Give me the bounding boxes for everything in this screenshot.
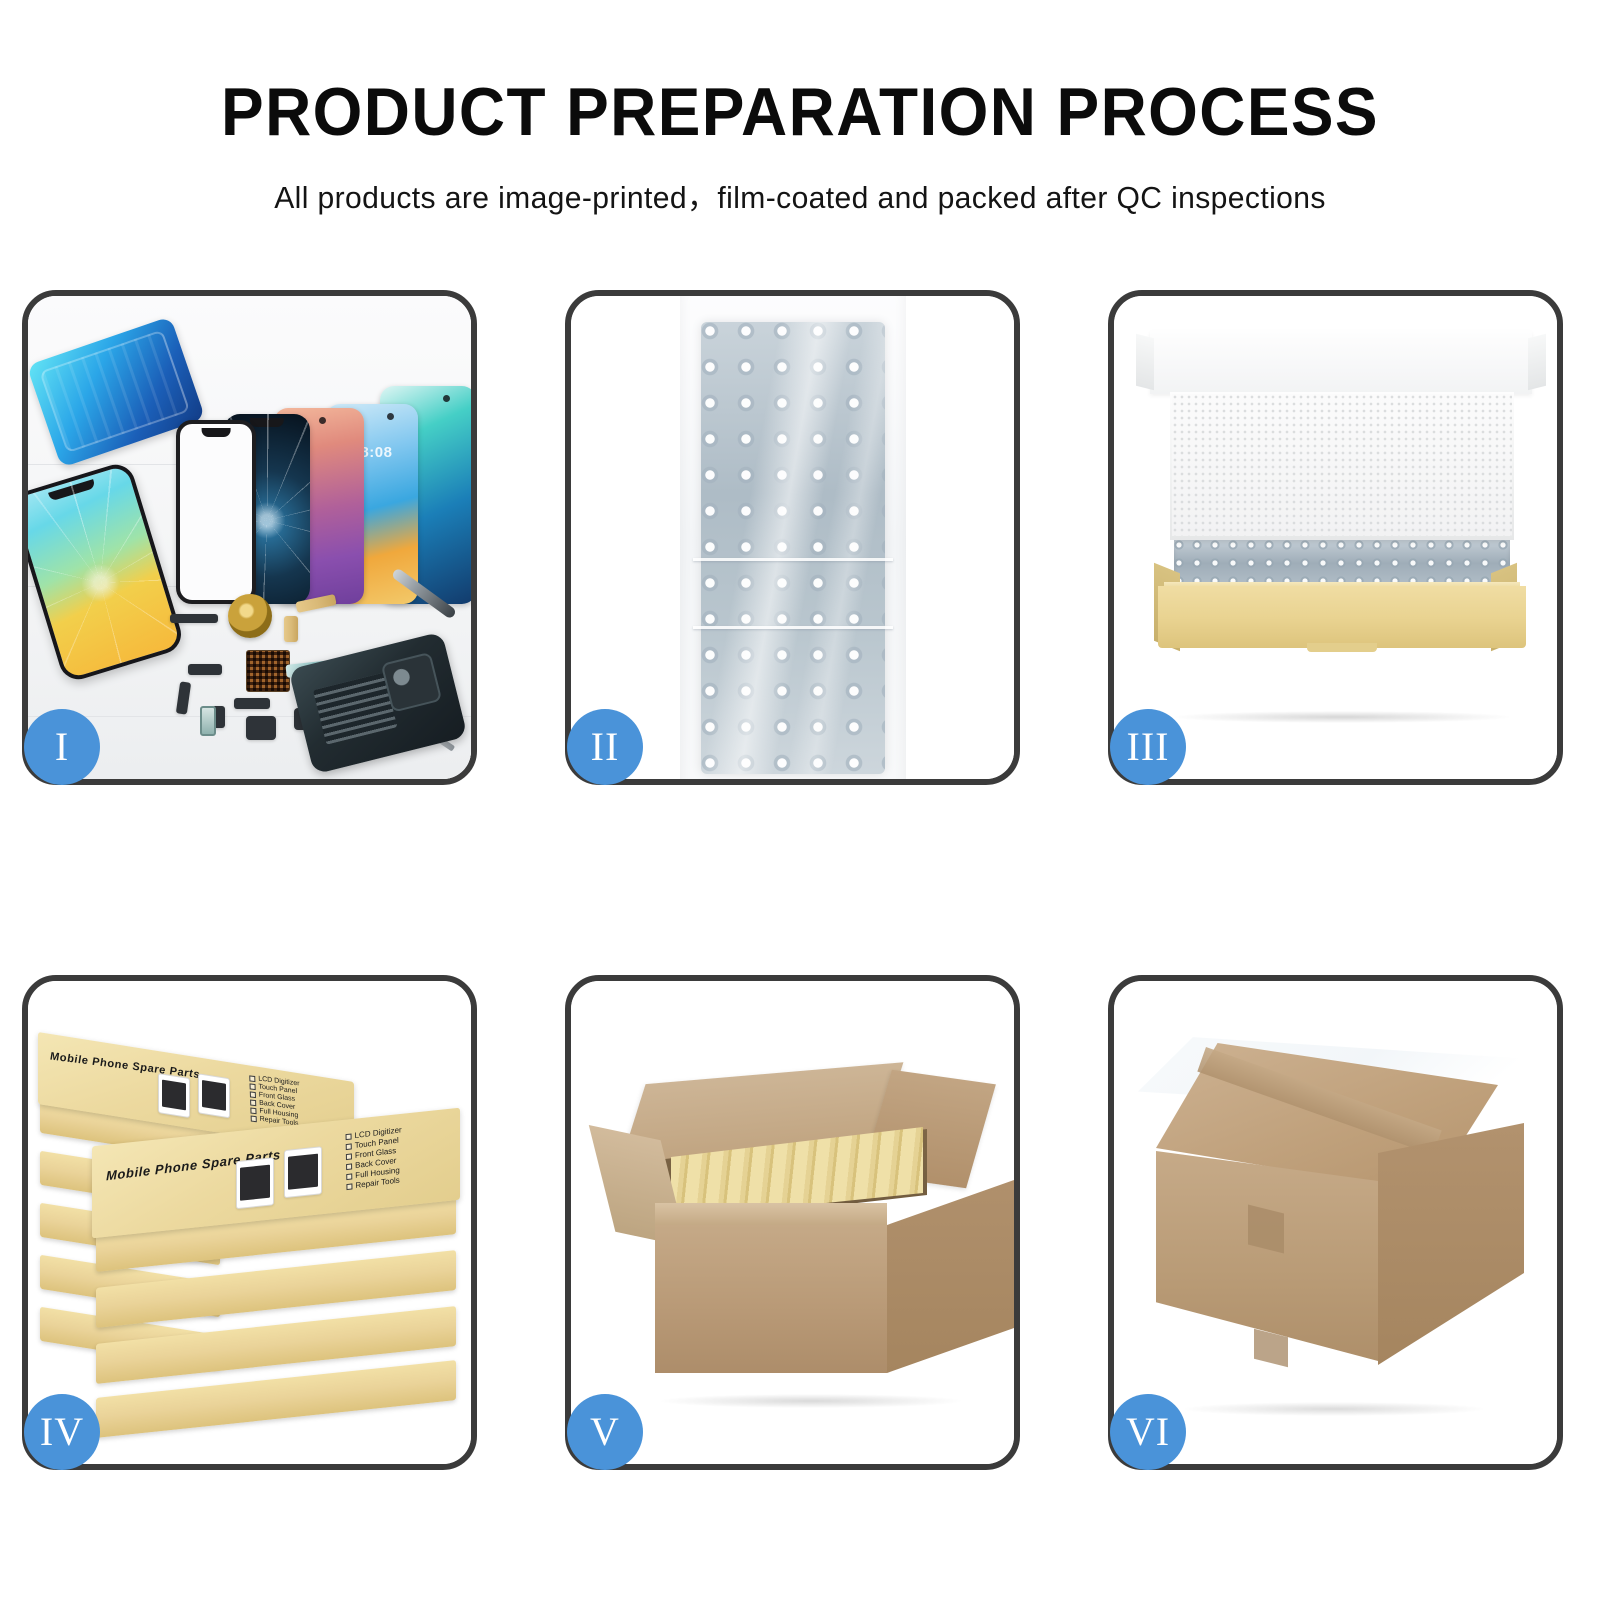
camera-punch-hole-icon bbox=[387, 413, 394, 420]
flex-cable-part bbox=[284, 616, 298, 642]
step-image-6 bbox=[1114, 981, 1557, 1464]
checkbox-icon bbox=[346, 1133, 352, 1140]
checkbox-icon bbox=[250, 1099, 256, 1106]
bubble-wrap-pouch bbox=[701, 322, 885, 774]
step-badge-5: V bbox=[567, 1394, 643, 1470]
step-image-3 bbox=[1114, 296, 1557, 779]
sealed-carton-front bbox=[1156, 1151, 1378, 1361]
camera-punch-hole-icon bbox=[443, 395, 450, 402]
box-drop-shadow bbox=[1174, 711, 1510, 723]
mailer-box-front-panel bbox=[1158, 586, 1526, 648]
speaker-coil-part bbox=[228, 594, 272, 638]
box-phone-image bbox=[158, 1073, 190, 1118]
checkbox-icon bbox=[249, 1075, 255, 1082]
wrap-seam-line bbox=[693, 558, 893, 561]
sealed-carton-side bbox=[1378, 1123, 1524, 1365]
step-image-5 bbox=[571, 981, 1014, 1464]
earpiece-mesh-part bbox=[170, 614, 218, 623]
box-phone-image bbox=[284, 1146, 322, 1198]
step-panel-1: 08:08 bbox=[22, 290, 477, 785]
carton-right-panel bbox=[887, 1179, 1014, 1373]
wrap-seam-line bbox=[693, 626, 893, 629]
checkbox-icon bbox=[249, 1083, 255, 1090]
camera-punch-hole-icon bbox=[319, 417, 326, 424]
step-badge-1: I bbox=[24, 709, 100, 785]
carton-top-rim bbox=[655, 1203, 887, 1227]
checkbox-icon bbox=[251, 1115, 257, 1122]
checkbox-icon bbox=[250, 1091, 256, 1098]
process-step-grid: 08:08 bbox=[22, 290, 1578, 1470]
front-glass-panel bbox=[176, 420, 256, 604]
step-panel-2: II bbox=[565, 290, 1020, 785]
open-carton bbox=[571, 981, 1014, 1464]
checkbox-icon bbox=[346, 1163, 352, 1170]
checkbox-icon bbox=[346, 1183, 352, 1190]
box-closure-tab bbox=[1307, 643, 1377, 652]
sim-tray-part bbox=[200, 706, 216, 736]
chip-array-part bbox=[246, 650, 290, 692]
page-subtitle: All products are image-printed，film-coat… bbox=[24, 172, 1576, 217]
checkbox-icon bbox=[346, 1173, 352, 1180]
retail-box-checklist: LCD Digitizer Touch Panel Front Glass bbox=[345, 1125, 402, 1191]
step-image-1: 08:08 bbox=[28, 296, 471, 779]
ic-chip-part bbox=[234, 698, 270, 709]
step-image-4: Mobile Phone Spare Parts LCD Digitizer T… bbox=[28, 981, 471, 1464]
carton-drop-shadow bbox=[1184, 1402, 1484, 1416]
checkbox-icon bbox=[346, 1143, 352, 1150]
step-panel-3: III bbox=[1108, 290, 1563, 785]
screen-notch-icon bbox=[202, 428, 231, 437]
step-panel-5: V bbox=[565, 975, 1020, 1470]
step-badge-6: VI bbox=[1110, 1394, 1186, 1470]
step-badge-2: II bbox=[567, 709, 643, 785]
infographic-page: PRODUCT PREPARATION PROCESS All products… bbox=[0, 0, 1600, 1600]
mailer-box-lid-flap bbox=[1150, 330, 1532, 394]
page-title: PRODUCT PREPARATION PROCESS bbox=[48, 78, 1552, 146]
step-panel-4: Mobile Phone Spare Parts LCD Digitizer T… bbox=[22, 975, 477, 1470]
connector-part bbox=[188, 664, 222, 675]
step-badge-4: IV bbox=[24, 1394, 100, 1470]
foam-liner-sheet bbox=[1172, 394, 1512, 536]
header: PRODUCT PREPARATION PROCESS All products… bbox=[0, 78, 1600, 217]
checkbox-icon bbox=[346, 1153, 352, 1160]
retail-box-checklist: LCD Digitizer Touch Panel Front Glass bbox=[249, 1074, 301, 1127]
step-panel-6: VI bbox=[1108, 975, 1563, 1470]
step-image-2 bbox=[571, 296, 1014, 779]
camera-module-part bbox=[246, 716, 276, 740]
phone-screen-fan: 08:08 bbox=[176, 354, 471, 604]
carton-front-panel bbox=[655, 1225, 887, 1373]
carton-drop-shadow bbox=[661, 1394, 961, 1408]
checkbox-icon bbox=[250, 1107, 256, 1114]
step-badge-3: III bbox=[1110, 709, 1186, 785]
box-phone-image bbox=[198, 1073, 230, 1118]
retail-box-stack: Mobile Phone Spare Parts LCD Digitizer T… bbox=[38, 1017, 468, 1437]
box-phone-image bbox=[236, 1157, 274, 1209]
